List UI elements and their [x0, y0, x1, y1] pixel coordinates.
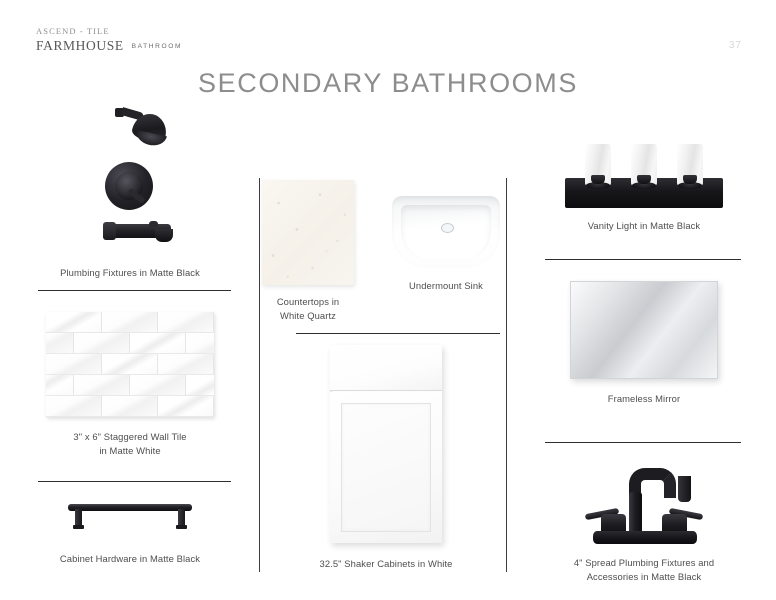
undermount-sink-icon	[392, 196, 500, 268]
tile-unit	[74, 375, 130, 396]
item-caption: Countertops in White Quartz	[262, 295, 354, 323]
caption-line-2: Accessories in Matte Black	[530, 570, 758, 584]
tile-row	[46, 396, 214, 417]
item-caption: Cabinet Hardware in Matte Black	[20, 552, 240, 566]
page-number: 37	[729, 40, 742, 51]
subway-tile-icon	[46, 312, 214, 417]
brand-line-1: ASCEND - TILE	[36, 27, 182, 36]
item-caption: Vanity Light in Matte Black	[530, 219, 758, 233]
item-frameless-mirror: Frameless Mirror	[530, 281, 758, 406]
tile-unit	[130, 333, 186, 354]
faucet-base-plate	[593, 531, 697, 544]
section-rule-right-1	[545, 259, 741, 260]
item-caption: Plumbing Fixtures in Matte Black	[20, 266, 240, 280]
tile-unit	[158, 312, 214, 333]
tile-unit	[102, 396, 158, 417]
item-vanity-light: Vanity Light in Matte Black	[530, 140, 758, 233]
tile-row	[46, 354, 214, 375]
tile-unit	[74, 333, 130, 354]
tile-unit	[102, 312, 158, 333]
tile-unit	[46, 354, 102, 375]
tile-unit	[158, 354, 214, 375]
item-caption: 4" Spread Plumbing Fixtures and Accessor…	[530, 556, 758, 584]
caption-line-1: 32.5" Shaker Cabinets in White	[272, 557, 500, 571]
tile-unit	[158, 396, 214, 417]
column-divider-right	[506, 178, 507, 572]
brand-subtitle: BATHROOM	[132, 44, 182, 52]
shower-arm-icon	[115, 108, 124, 117]
caption-line-1: Cabinet Hardware in Matte Black	[20, 552, 240, 566]
item-plumbing-fixtures: Plumbing Fixtures in Matte Black	[20, 100, 240, 280]
item-cabinet-hardware: Cabinet Hardware in Matte Black	[20, 500, 240, 566]
caption-line-2: White Quartz	[262, 309, 354, 323]
caption-line-1: 4" Spread Plumbing Fixtures and	[530, 556, 758, 570]
caption-line-1: Plumbing Fixtures in Matte Black	[20, 266, 240, 280]
sink-drain-icon	[441, 223, 454, 233]
brand-block: ASCEND - TILE FARMHOUSE BATHROOM	[36, 27, 182, 52]
section-rule-left-2	[38, 481, 231, 482]
spec-board-page: ASCEND - TILE FARMHOUSE BATHROOM 37 SECO…	[0, 0, 776, 600]
section-rule-right-2	[545, 442, 741, 443]
tile-row	[46, 375, 214, 396]
tile-unit	[46, 396, 102, 417]
frameless-mirror-icon	[570, 281, 718, 379]
quartz-swatch-icon	[262, 180, 354, 285]
tile-row	[46, 312, 214, 333]
tile-unit	[46, 333, 74, 354]
section-rule-left-1	[38, 290, 231, 291]
tile-unit	[46, 375, 74, 396]
valve-trim-icon	[105, 162, 153, 210]
section-rule-center-1	[296, 333, 500, 334]
item-wall-tile: 3" x 6" Staggered Wall Tile in Matte Whi…	[20, 312, 240, 458]
caption-line-1: Undermount Sink	[390, 279, 502, 293]
item-spread-faucet: 4" Spread Plumbing Fixtures and Accessor…	[530, 456, 758, 584]
tile-unit	[186, 375, 214, 396]
brand-line-2: FARMHOUSE	[36, 39, 124, 53]
tile-unit	[130, 375, 186, 396]
item-caption: 32.5" Shaker Cabinets in White	[272, 557, 500, 571]
shaker-cabinet-icon	[330, 345, 442, 543]
caption-line-2: in Matte White	[20, 444, 240, 458]
caption-line-1: Vanity Light in Matte Black	[530, 219, 758, 233]
tile-row	[46, 333, 214, 354]
caption-line-1: 3" x 6" Staggered Wall Tile	[20, 430, 240, 444]
item-countertops: Countertops in White Quartz	[262, 180, 354, 323]
tile-unit	[102, 354, 158, 375]
item-shaker-cabinets: 32.5" Shaker Cabinets in White	[272, 345, 500, 571]
item-caption: Undermount Sink	[390, 279, 502, 293]
tile-unit	[186, 333, 214, 354]
faucet-spout-icon	[678, 476, 691, 502]
caption-line-1: Countertops in	[262, 295, 354, 309]
bar-pull-icon	[68, 500, 192, 530]
cabinet-door-front	[330, 392, 442, 543]
tile-unit	[46, 312, 102, 333]
spread-faucet-icon	[579, 456, 709, 544]
page-title: SECONDARY BATHROOMS	[0, 68, 776, 99]
vanity-light-icon	[565, 140, 723, 208]
caption-line-1: Frameless Mirror	[530, 392, 758, 406]
item-undermount-sink: Undermount Sink	[390, 196, 502, 293]
cabinet-drawer-front	[330, 345, 442, 391]
item-caption: Frameless Mirror	[530, 392, 758, 406]
column-divider-left	[259, 178, 260, 572]
tub-spout-icon	[109, 224, 175, 239]
plumbing-fixtures-icon	[23, 100, 238, 260]
item-caption: 3" x 6" Staggered Wall Tile in Matte Whi…	[20, 430, 240, 458]
